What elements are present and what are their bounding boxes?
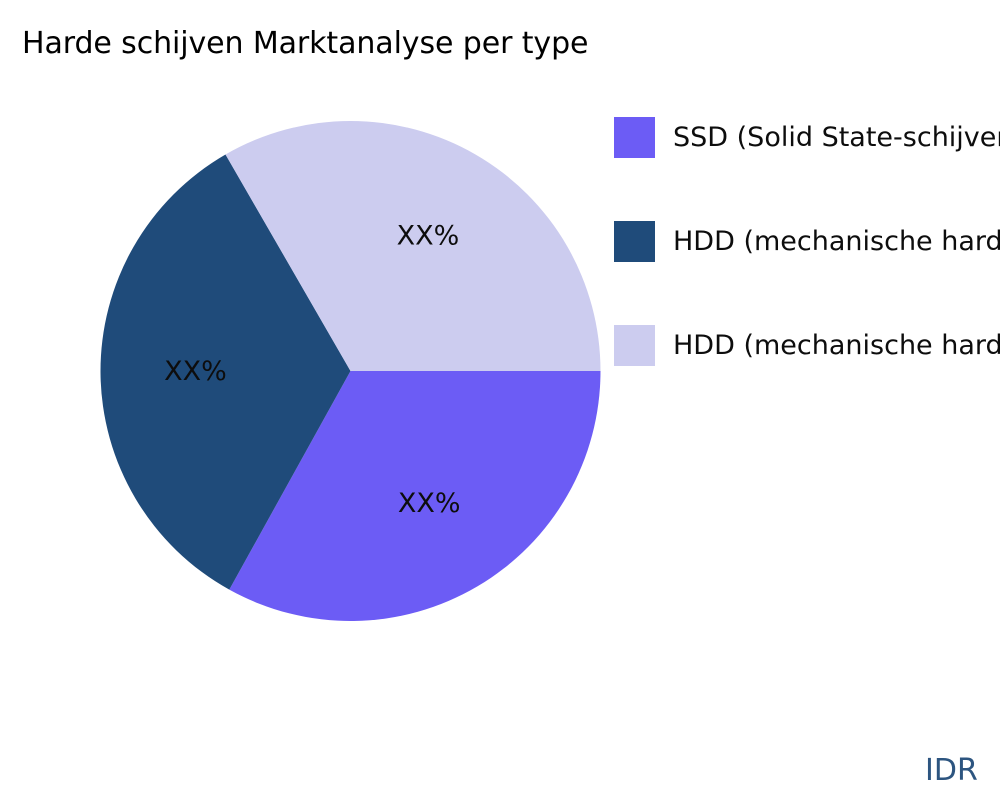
legend-item-label: HDD (mechanische harde schijven) [673,226,1000,257]
pie-slice-label: XX% [397,220,460,251]
pie-slice-label: XX% [164,356,227,387]
legend-swatch-icon [614,221,655,262]
watermark-idr: IDR [925,753,978,788]
pie-chart-plot-area: XX%XX%XX% [0,0,620,800]
legend-swatch-icon [614,117,655,158]
legend-item[interactable]: HDD (mechanische harde schijven) [614,221,1000,262]
legend-swatch-icon [614,325,655,366]
legend-item[interactable]: HDD (mechanische harde schijven) [614,325,1000,366]
pie-chart-svg: XX%XX%XX% [0,0,620,800]
legend-item-label: SSD (Solid State-schijven) [673,122,1000,153]
legend-item-label: HDD (mechanische harde schijven) [673,330,1000,361]
pie-slice-label: XX% [398,488,461,519]
legend-item[interactable]: SSD (Solid State-schijven) [614,117,1000,158]
chart-legend: SSD (Solid State-schijven)HDD (mechanisc… [614,117,1000,429]
